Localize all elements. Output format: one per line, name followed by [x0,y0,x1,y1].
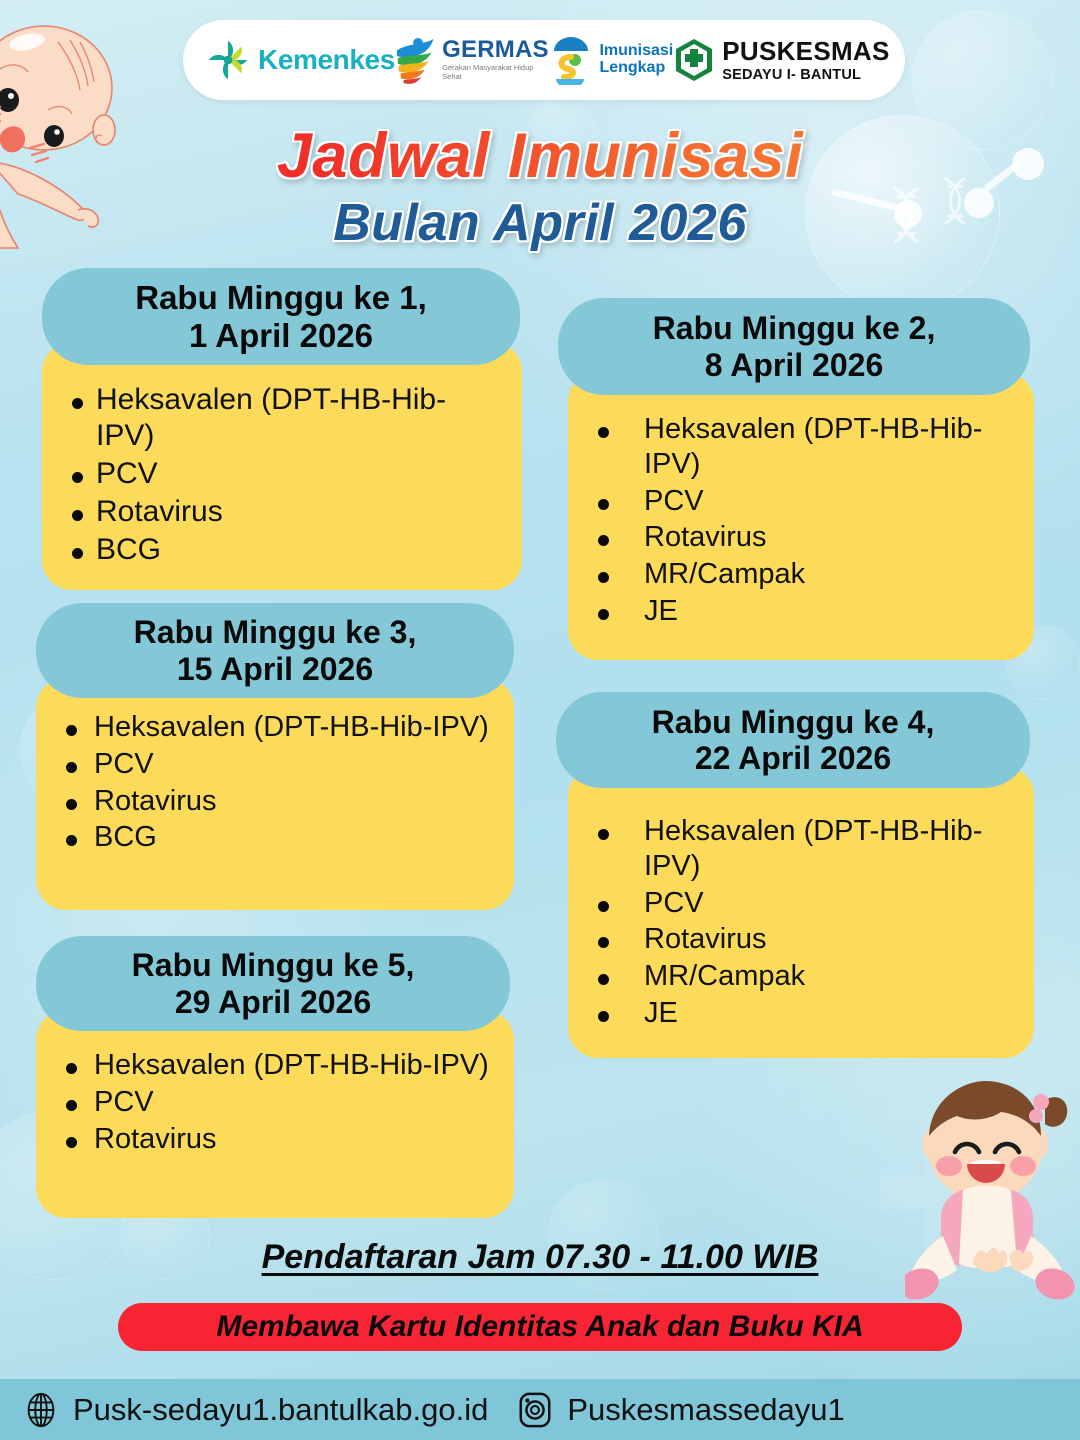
germas-sublabel: Gerakan Masyarakat Hidup Sehat [442,64,550,81]
contact-bar: Pusk-sedayu1.bantulkab.go.id Puskesmasse… [0,1379,1080,1440]
requirement-text: Membawa Kartu Identitas Anak dan Buku KI… [216,1310,863,1344]
germas-label: GERMAS [442,38,550,62]
card-header-text: Rabu Minggu ke 5,29 April 2026 [132,947,415,1019]
germas-figure-icon [395,34,435,86]
page-title: Jadwal Imunisasi [0,120,1080,192]
card-header: Rabu Minggu ke 2,8 April 2026 [558,298,1030,395]
card-header-text: Rabu Minggu ke 4,22 April 2026 [652,704,935,776]
list-item: Heksavalen (DPT-HB-Hib-IPV) [54,1048,496,1083]
list-item: Rotavirus [586,520,1016,555]
list-item: MR/Campak [586,557,1016,592]
globe-icon [22,1391,60,1429]
list-item: PCV [60,456,504,492]
imunisasi-label: Imunisasi [599,43,673,60]
kemenkes-pinwheel-icon [205,37,251,83]
list-item: Rotavirus [54,1122,496,1157]
website-contact[interactable]: Pusk-sedayu1.bantulkab.go.id [22,1391,488,1429]
lengkap-label: Lengkap [599,60,673,77]
list-item: JE [586,996,1016,1031]
website-text: Pusk-sedayu1.bantulkab.go.id [73,1392,488,1428]
puskesmas-hexagon-cross-icon [673,37,715,83]
kemenkes-label: Kemenkes [258,44,395,76]
card-header-text: Rabu Minggu ke 1,1 April 2026 [135,279,427,354]
puskesmas-label: PUSKESMAS [722,38,889,64]
list-item: Rotavirus [54,784,496,819]
immunization-schedule-poster: Kemenkes GERMAS Gerakan Masyarakat Hidup… [0,0,1080,1440]
card-body: Heksavalen (DPT-HB-Hib-IPV) PCV Rotaviru… [42,342,522,590]
card-header: Rabu Minggu ke 3,15 April 2026 [36,603,514,698]
list-item: PCV [54,1085,496,1120]
kemenkes-logo: Kemenkes [205,37,395,83]
card-header: Rabu Minggu ke 1,1 April 2026 [42,268,520,365]
card-body: Heksavalen (DPT-HB-Hib-IPV) PCV Rotaviru… [36,678,514,910]
list-item: Heksavalen (DPT-HB-Hib-IPV) [60,382,504,454]
vaccine-list: Heksavalen (DPT-HB-Hib-IPV) PCV Rotaviru… [60,382,504,568]
vaccine-list: Heksavalen (DPT-HB-Hib-IPV) PCV Rotaviru… [586,412,1016,629]
logo-bar: Kemenkes GERMAS Gerakan Masyarakat Hidup… [183,20,905,100]
list-item: PCV [54,747,496,782]
card-header-text: Rabu Minggu ke 2,8 April 2026 [653,310,936,382]
puskesmas-sublabel: SEDAYU I- BANTUL [722,67,889,83]
list-item: Rotavirus [60,494,504,530]
list-item: Rotavirus [586,922,1016,957]
vaccine-list: Heksavalen (DPT-HB-Hib-IPV) PCV Rotaviru… [586,814,1016,1031]
puskesmas-logo: PUSKESMAS SEDAYU I- BANTUL [673,37,889,83]
list-item: Heksavalen (DPT-HB-Hib-IPV) [586,412,1016,482]
list-item: Heksavalen (DPT-HB-Hib-IPV) [586,814,1016,884]
requirement-banner: Membawa Kartu Identitas Anak dan Buku KI… [118,1303,962,1351]
instagram-contact[interactable]: Puskesmassedayu1 [516,1391,844,1429]
card-body: Heksavalen (DPT-HB-Hib-IPV) PCV Rotaviru… [568,766,1034,1058]
list-item: PCV [586,886,1016,921]
registration-time: Pendaftaran Jam 07.30 - 11.00 WIB [0,1238,1080,1277]
list-item: BCG [54,820,496,855]
instagram-text: Puskesmassedayu1 [567,1392,844,1428]
imunisasi-lengkap-icon [550,35,592,85]
vaccine-list: Heksavalen (DPT-HB-Hib-IPV) PCV Rotaviru… [54,710,496,855]
card-header-text: Rabu Minggu ke 3,15 April 2026 [134,614,417,686]
instagram-icon [516,1391,554,1429]
list-item: PCV [586,484,1016,519]
page-subtitle: Bulan April 2026 [0,193,1080,253]
imunisasi-lengkap-logo: Imunisasi Lengkap [550,35,673,85]
card-header: Rabu Minggu ke 4,22 April 2026 [556,692,1030,788]
card-header: Rabu Minggu ke 5,29 April 2026 [36,936,510,1031]
list-item: Heksavalen (DPT-HB-Hib-IPV) [54,710,496,745]
germas-logo: GERMAS Gerakan Masyarakat Hidup Sehat [395,34,551,86]
list-item: MR/Campak [586,959,1016,994]
card-body: Heksavalen (DPT-HB-Hib-IPV) PCV Rotaviru… [36,1010,514,1218]
card-body: Heksavalen (DPT-HB-Hib-IPV) PCV Rotaviru… [568,372,1034,660]
list-item: BCG [60,532,504,568]
vaccine-list: Heksavalen (DPT-HB-Hib-IPV) PCV Rotaviru… [54,1048,496,1156]
list-item: JE [586,594,1016,629]
